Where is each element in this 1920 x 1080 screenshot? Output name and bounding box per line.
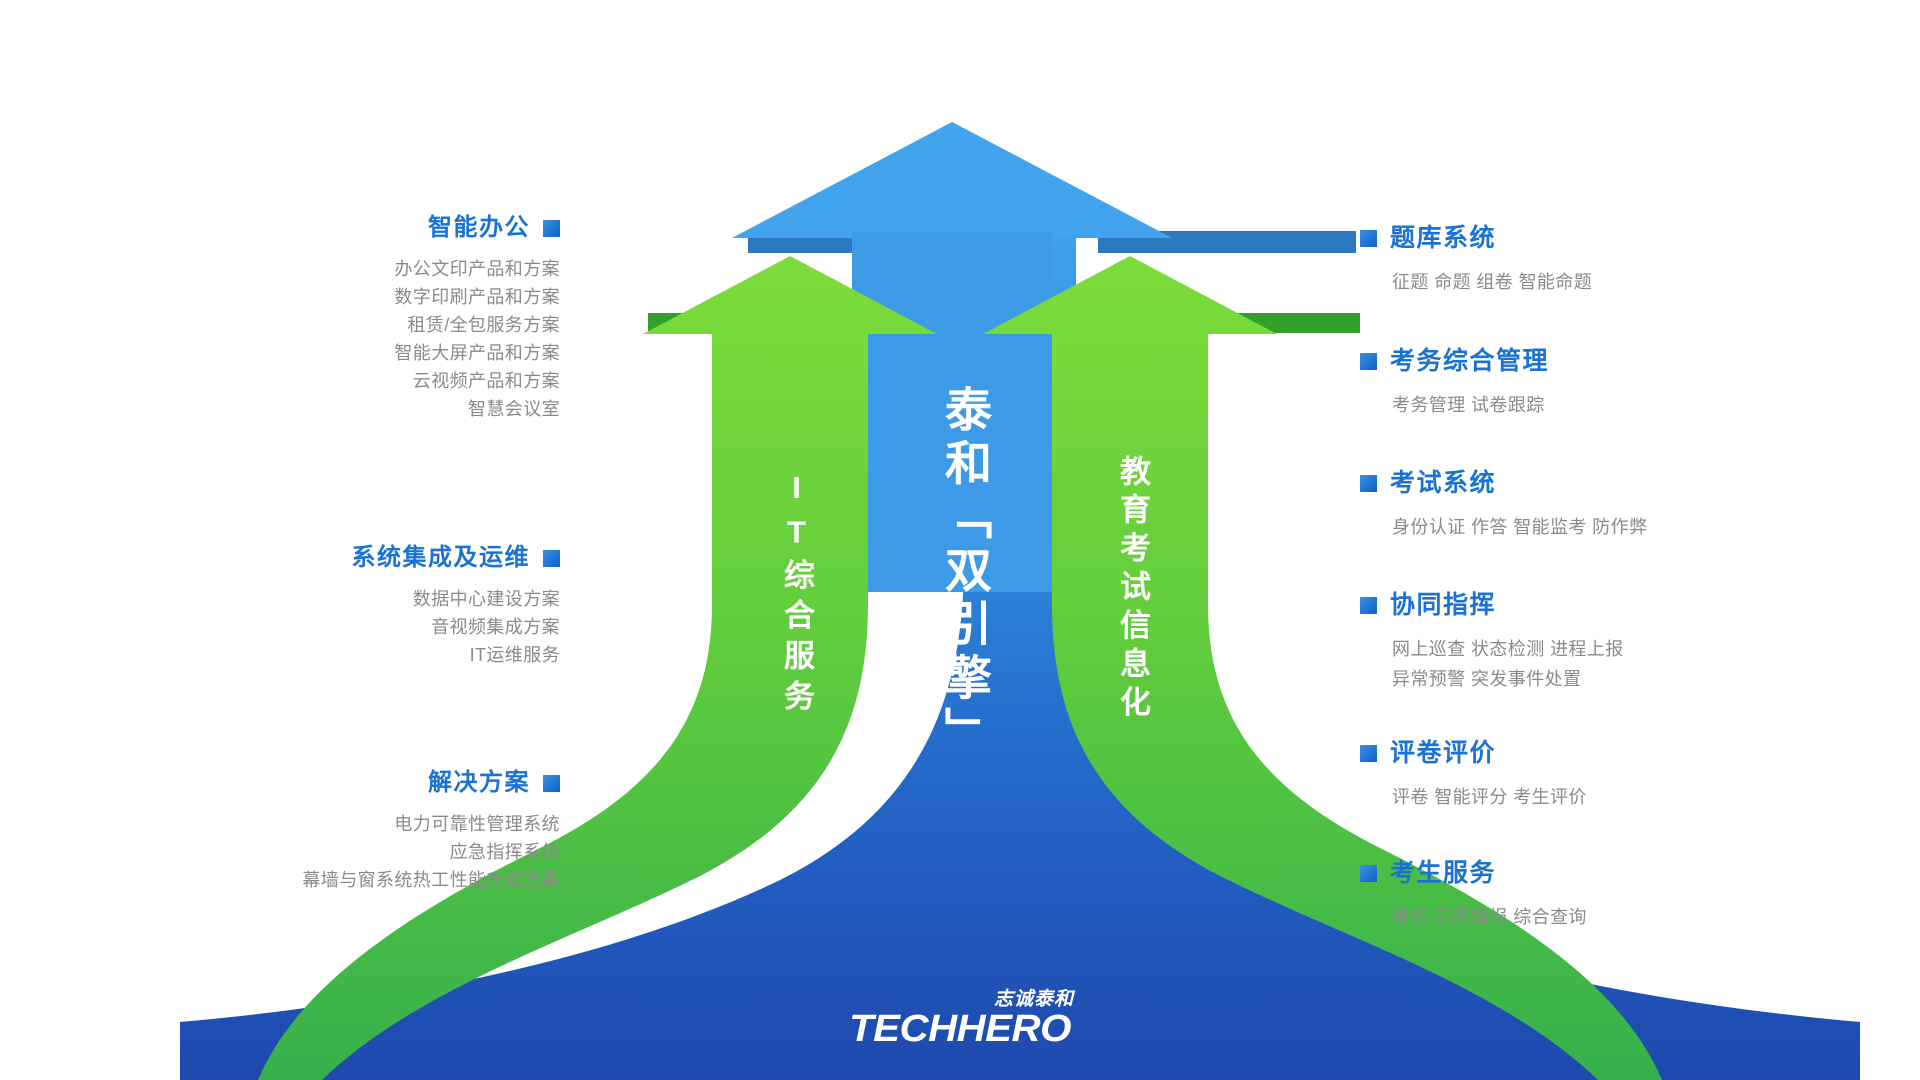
category-item[interactable]: 应急指挥系统: [100, 838, 560, 866]
category-item-list: 身份认证 作答 智能监考 防作弊: [1360, 512, 1840, 542]
category-item[interactable]: 智能大屏产品和方案: [100, 339, 560, 367]
category-title: 系统集成及运维: [352, 545, 531, 571]
category-title: 评卷评价: [1390, 740, 1496, 768]
category-item[interactable]: 异常预警 突发事件处置: [1360, 664, 1840, 694]
category-heading-system-integration-ops[interactable]: 系统集成及运维: [100, 545, 560, 571]
category-item-list: 征题 命题 组卷 智能命题: [1360, 267, 1840, 297]
category-group-system-integration-ops: 系统集成及运维数据中心建设方案音视频集成方案IT运维服务: [100, 545, 560, 669]
blue-square-bullet-icon: [1360, 865, 1377, 882]
category-group-candidate-services: 考生服务报名 志愿填报 综合查询: [1360, 860, 1840, 932]
category-item-list: 办公文印产品和方案数字印刷产品和方案租赁/全包服务方案智能大屏产品和方案云视频产…: [100, 255, 560, 423]
category-item[interactable]: 幕墙与窗系统热工性能升级方案: [100, 866, 560, 894]
category-item[interactable]: 音视频集成方案: [100, 613, 560, 641]
category-title: 考生服务: [1390, 860, 1496, 888]
blue-square-bullet-icon: [1360, 230, 1377, 247]
category-heading-candidate-services[interactable]: 考生服务: [1360, 860, 1840, 888]
blue-square-bullet-icon: [1360, 597, 1377, 614]
category-item[interactable]: IT运维服务: [100, 641, 560, 669]
techhero-logo: 志诚泰和 TECHHERO: [840, 990, 1080, 1048]
category-group-question-bank-system: 题库系统征题 命题 组卷 智能命题: [1360, 225, 1840, 297]
blue-square-bullet-icon: [1360, 745, 1377, 762]
category-item[interactable]: 云视频产品和方案: [100, 367, 560, 395]
category-heading-solutions[interactable]: 解决方案: [100, 770, 560, 796]
center-arrow-label: 泰和「双引擎」: [916, 385, 988, 760]
category-group-solutions: 解决方案电力可靠性管理系统应急指挥系统幕墙与窗系统热工性能升级方案: [100, 770, 560, 894]
category-item[interactable]: 报名 志愿填报 综合查询: [1360, 902, 1840, 932]
category-group-examination-system: 考试系统身份认证 作答 智能监考 防作弊: [1360, 470, 1840, 542]
category-title: 解决方案: [428, 770, 530, 796]
right-arrow-label: 教育考试信息化: [1088, 455, 1148, 724]
category-group-marking-evaluation: 评卷评价评卷 智能评分 考生评价: [1360, 740, 1840, 812]
category-item[interactable]: 数字印刷产品和方案: [100, 283, 560, 311]
category-heading-collaborative-command[interactable]: 协同指挥: [1360, 592, 1840, 620]
logo-chinese-name: 志诚泰和: [840, 990, 1080, 1009]
blue-square-bullet-icon: [543, 550, 560, 567]
category-item[interactable]: 办公文印产品和方案: [100, 255, 560, 283]
category-heading-smart-office[interactable]: 智能办公: [100, 215, 560, 241]
category-title: 题库系统: [1390, 225, 1496, 253]
blue-square-bullet-icon: [1360, 475, 1377, 492]
category-item[interactable]: 数据中心建设方案: [100, 585, 560, 613]
category-title: 考试系统: [1390, 470, 1496, 498]
category-group-smart-office: 智能办公办公文印产品和方案数字印刷产品和方案租赁/全包服务方案智能大屏产品和方案…: [100, 215, 560, 423]
category-heading-marking-evaluation[interactable]: 评卷评价: [1360, 740, 1840, 768]
category-title: 智能办公: [428, 215, 530, 241]
category-title: 考务综合管理: [1390, 348, 1549, 376]
category-heading-examination-system[interactable]: 考试系统: [1360, 470, 1840, 498]
category-group-collaborative-command: 协同指挥网上巡查 状态检测 进程上报异常预警 突发事件处置: [1360, 592, 1840, 694]
category-item[interactable]: 智慧会议室: [100, 395, 560, 423]
category-item-list: 报名 志愿填报 综合查询: [1360, 902, 1840, 932]
category-heading-exam-affairs-management[interactable]: 考务综合管理: [1360, 348, 1840, 376]
category-item-list: 考务管理 试卷跟踪: [1360, 390, 1840, 420]
infographic-canvas: IT综合服务 泰和「双引擎」 教育考试信息化 志诚泰和 TECHHERO 智能办…: [0, 0, 1920, 1080]
category-item[interactable]: 评卷 智能评分 考生评价: [1360, 782, 1840, 812]
blue-square-bullet-icon: [1360, 353, 1377, 370]
category-item[interactable]: 征题 命题 组卷 智能命题: [1360, 267, 1840, 297]
category-title: 协同指挥: [1390, 592, 1496, 620]
logo-wordmark: TECHHERO: [833, 1010, 1087, 1048]
category-item[interactable]: 考务管理 试卷跟踪: [1360, 390, 1840, 420]
category-item[interactable]: 租赁/全包服务方案: [100, 311, 560, 339]
category-item[interactable]: 网上巡查 状态检测 进程上报: [1360, 634, 1840, 664]
category-item-list: 电力可靠性管理系统应急指挥系统幕墙与窗系统热工性能升级方案: [100, 810, 560, 894]
left-arrow-label: IT综合服务: [752, 470, 812, 720]
category-item[interactable]: 电力可靠性管理系统: [100, 810, 560, 838]
blue-square-bullet-icon: [543, 775, 560, 792]
category-heading-question-bank-system[interactable]: 题库系统: [1360, 225, 1840, 253]
category-group-exam-affairs-management: 考务综合管理考务管理 试卷跟踪: [1360, 348, 1840, 420]
category-item-list: 网上巡查 状态检测 进程上报异常预警 突发事件处置: [1360, 634, 1840, 694]
blue-square-bullet-icon: [543, 220, 560, 237]
category-item-list: 数据中心建设方案音视频集成方案IT运维服务: [100, 585, 560, 669]
center-arrow-head: [732, 122, 1172, 238]
category-item[interactable]: 身份认证 作答 智能监考 防作弊: [1360, 512, 1840, 542]
category-item-list: 评卷 智能评分 考生评价: [1360, 782, 1840, 812]
